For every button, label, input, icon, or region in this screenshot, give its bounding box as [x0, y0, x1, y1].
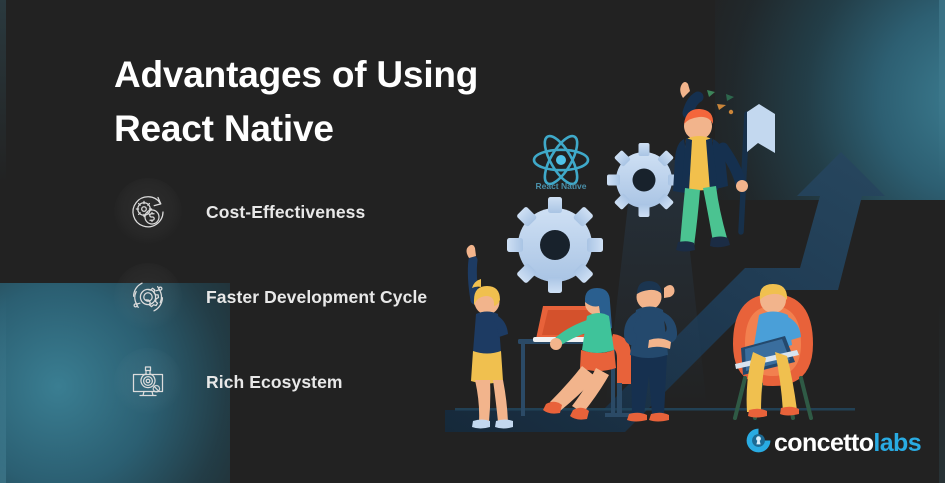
- gear-large: [507, 197, 603, 293]
- feature-item-development-cycle: Faster Development Cycle: [114, 263, 427, 331]
- flag: [747, 104, 775, 153]
- concetto-logo-mark: [745, 427, 772, 459]
- cost-effectiveness-icon: [114, 178, 182, 246]
- react-native-label: React Native: [535, 181, 586, 191]
- feature-item-rich-ecosystem: Rich Ecosystem: [114, 348, 427, 416]
- gear-small: [607, 143, 681, 217]
- react-native-advantages-banner: React Native: [0, 0, 945, 483]
- logo-wordmark: concettolabs: [774, 431, 921, 456]
- content-panel: Advantages of Using React Native: [0, 0, 520, 483]
- concettolabs-logo[interactable]: concettolabs: [745, 427, 921, 459]
- person-with-flag: [673, 82, 775, 252]
- logo-word-concetto: concetto: [774, 429, 873, 457]
- illustration: React Native: [445, 0, 945, 483]
- development-cycle-icon: [114, 263, 182, 331]
- feature-label-cost-effectiveness: Cost-Effectiveness: [206, 202, 365, 223]
- page-title: Advantages of Using React Native: [114, 48, 514, 156]
- feature-item-cost-effectiveness: Cost-Effectiveness: [114, 178, 427, 246]
- page-title-line-1: Advantages of Using: [114, 48, 514, 102]
- page-title-line-2: React Native: [114, 102, 514, 156]
- logo-word-labs: labs: [873, 429, 921, 457]
- top: [582, 313, 614, 353]
- feature-label-rich-ecosystem: Rich Ecosystem: [206, 372, 343, 393]
- feature-label-development-cycle: Faster Development Cycle: [206, 287, 427, 308]
- feature-list: Cost-Effectiveness: [114, 178, 427, 416]
- rich-ecosystem-icon: [114, 348, 182, 416]
- react-native-logo: React Native: [534, 132, 588, 191]
